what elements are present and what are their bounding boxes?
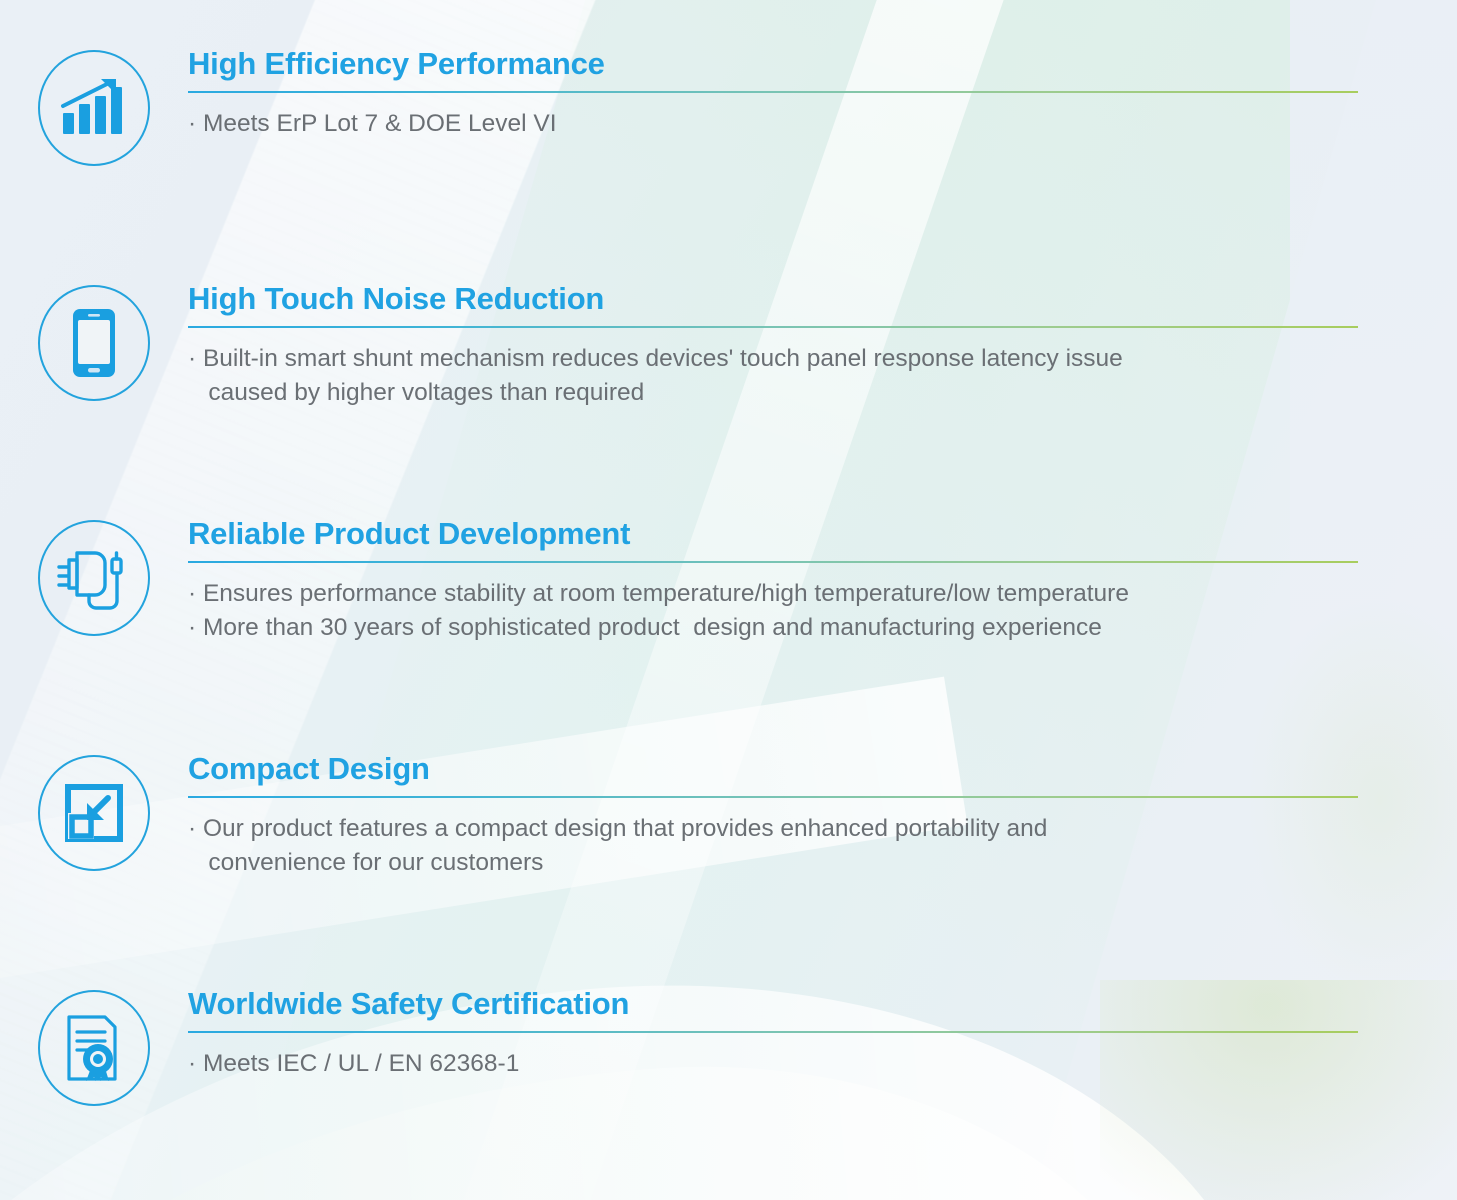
feature-bullet-list: · Built-in smart shunt mechanism reduces…	[188, 342, 1377, 412]
feature-title: High Touch Noise Reduction	[188, 283, 1377, 316]
feature-text-block: Reliable Product Development · Ensures p…	[188, 518, 1457, 646]
feature-item-reliable-product-development: Reliable Product Development · Ensures p…	[0, 518, 1457, 646]
feature-bullet: convenience for our customers	[188, 846, 1377, 881]
feature-item-high-touch-noise-reduction: High Touch Noise Reduction · Built-in sm…	[0, 283, 1457, 411]
feature-bullet: caused by higher voltages than required	[188, 376, 1377, 411]
feature-text-block: Compact Design · Our product features a …	[188, 753, 1457, 881]
compact-resize-icon	[38, 755, 150, 871]
feature-divider	[188, 561, 1358, 563]
power-adapter-icon	[38, 520, 150, 636]
feature-bullet: · Meets ErP Lot 7 & DOE Level VI	[188, 107, 1377, 142]
feature-bullet-list: · Ensures performance stability at room …	[188, 577, 1377, 647]
feature-title: Compact Design	[188, 753, 1377, 786]
feature-divider	[188, 326, 1358, 328]
feature-icon-container	[0, 753, 188, 871]
feature-bullet: · Ensures performance stability at room …	[188, 577, 1377, 612]
feature-item-compact-design: Compact Design · Our product features a …	[0, 753, 1457, 881]
certificate-award-icon	[38, 990, 150, 1106]
feature-item-worldwide-safety-certification: Worldwide Safety Certification · Meets I…	[0, 988, 1457, 1106]
smartphone-icon	[38, 285, 150, 401]
feature-bullet-list: · Our product features a compact design …	[188, 812, 1377, 882]
feature-icon-container	[0, 518, 188, 636]
feature-bullet-list: · Meets ErP Lot 7 & DOE Level VI	[188, 107, 1377, 142]
growth-bar-chart-icon	[38, 50, 150, 166]
feature-bullet: · More than 30 years of sophisticated pr…	[188, 611, 1377, 646]
feature-text-block: High Touch Noise Reduction · Built-in sm…	[188, 283, 1457, 411]
feature-divider	[188, 1031, 1358, 1033]
feature-text-block: High Efficiency Performance · Meets ErP …	[188, 48, 1457, 141]
feature-title: High Efficiency Performance	[188, 48, 1377, 81]
feature-icon-container	[0, 283, 188, 401]
feature-bullet: · Built-in smart shunt mechanism reduces…	[188, 342, 1377, 377]
feature-title: Reliable Product Development	[188, 518, 1377, 551]
feature-list-page: High Efficiency Performance · Meets ErP …	[0, 0, 1457, 1200]
feature-bullet: · Our product features a compact design …	[188, 812, 1377, 847]
feature-icon-container	[0, 48, 188, 166]
feature-text-block: Worldwide Safety Certification · Meets I…	[188, 988, 1457, 1081]
feature-bullet: · Meets IEC / UL / EN 62368-1	[188, 1047, 1377, 1082]
feature-title: Worldwide Safety Certification	[188, 988, 1377, 1021]
feature-divider	[188, 796, 1358, 798]
feature-bullet-list: · Meets IEC / UL / EN 62368-1	[188, 1047, 1377, 1082]
feature-item-high-efficiency-performance: High Efficiency Performance · Meets ErP …	[0, 48, 1457, 166]
feature-icon-container	[0, 988, 188, 1106]
feature-divider	[188, 91, 1358, 93]
